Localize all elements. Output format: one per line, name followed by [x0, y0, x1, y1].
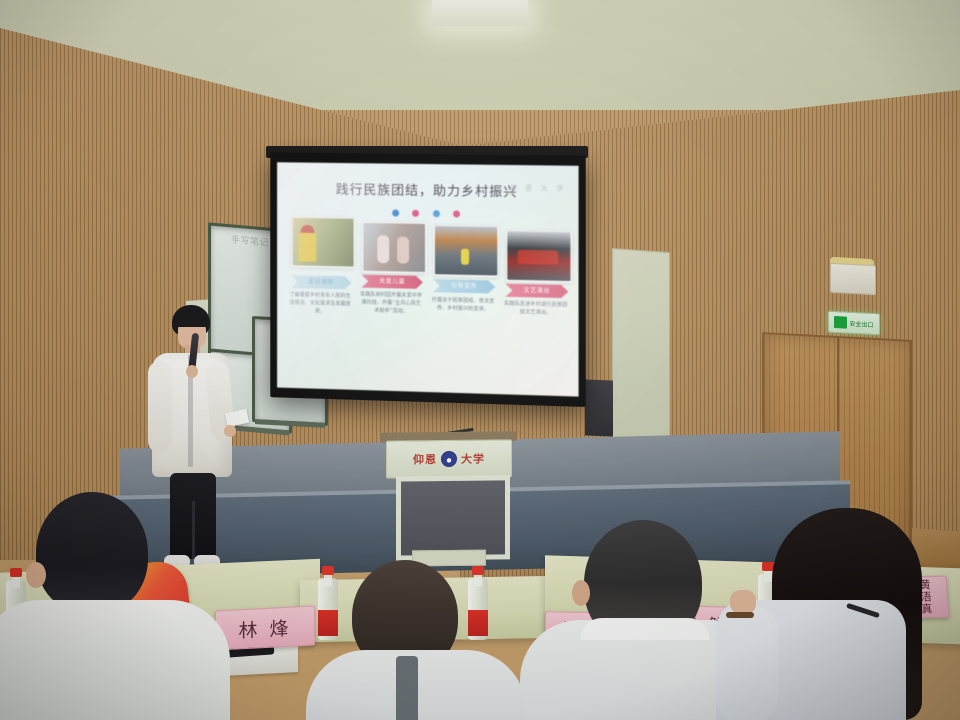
podium-university-text-right: 大学 [461, 451, 485, 467]
slide-caption-row: 了解基层乡村青年人民的生活情况、文化需求及发展愿景。 实践队到村园开展关爱中学课… [289, 289, 567, 346]
podium-front-panel [396, 475, 510, 560]
ear [572, 580, 590, 606]
speaker-cabinet [585, 380, 613, 437]
torso [0, 600, 230, 720]
bracelet [726, 612, 754, 618]
slide-dot [412, 210, 419, 217]
slide-caption-1: 了解基层乡村青年人民的生活情况、文化需求及发展愿景。 [289, 291, 352, 316]
slide-dot [433, 210, 440, 217]
presenter-speaker [138, 305, 246, 570]
slide-caption-3: 开展关于民族团结、普法宣传、乡村振兴的宣讲。 [431, 296, 495, 314]
running-person-icon [834, 316, 847, 329]
podium-nameplate: 仰恩 大学 [386, 439, 512, 478]
shirt-collar [580, 618, 710, 640]
projection-screen: 践行民族团结，助力乡村振兴 仰 恩 大 学 走访调研 关爱儿童 引导宣传 文艺演… [270, 152, 585, 407]
water-bottle [318, 566, 338, 640]
hand [730, 590, 756, 614]
backpack-strap [396, 656, 418, 720]
lecture-hall-photo: 安全出口 手写笔记 践行民族团结，助力乡村振兴 仰 恩 大 学 [0, 0, 960, 720]
slide-caption-4: 实践队走进乡村进行民族团结文艺演出。 [503, 300, 568, 318]
slide-ribbon-3: 引导宣传 [433, 279, 495, 293]
emergency-exit-sign: 安全出口 [828, 311, 880, 336]
raised-arm [716, 606, 778, 720]
wall-control-panel[interactable] [830, 263, 876, 295]
name-plate-left: 林 烽 [215, 605, 315, 650]
slide-photo-1 [291, 216, 356, 269]
slide-dot [393, 209, 400, 216]
slide-photo-row [289, 216, 567, 275]
slide-caption-2: 实践队到村园开展关爱中学课托班，开展“五月心风艺术助学”活动。 [359, 291, 423, 316]
presenter-right-hand [224, 425, 236, 437]
presenter-left-hand [186, 365, 198, 378]
water-bottle [468, 566, 488, 640]
presentation-slide: 践行民族团结，助力乡村振兴 仰 恩 大 学 走访调研 关爱儿童 引导宣传 文艺演… [277, 162, 578, 396]
slide-photo-2 [361, 221, 427, 274]
side-wall-panel-right [612, 248, 670, 444]
lectern-podium: 仰恩 大学 [386, 439, 510, 566]
head [36, 492, 148, 614]
slide-photo-3 [433, 224, 499, 277]
presenter-trouser-seam [192, 501, 195, 559]
exit-sign-label: 安全出口 [849, 318, 873, 328]
university-emblem-icon [441, 451, 457, 467]
slide-ribbon-1: 走访调研 [291, 275, 352, 289]
slide-dot [453, 210, 460, 217]
slide-ribbon-2: 关爱儿童 [361, 275, 423, 289]
ceiling-light [432, 0, 528, 26]
slide-org-logo: 仰 恩 大 学 [510, 183, 567, 194]
presenter-fringe [172, 315, 210, 327]
ear [26, 562, 46, 588]
presenter-left-arm [148, 361, 172, 453]
podium-university-text-left: 仰恩 [413, 451, 437, 467]
